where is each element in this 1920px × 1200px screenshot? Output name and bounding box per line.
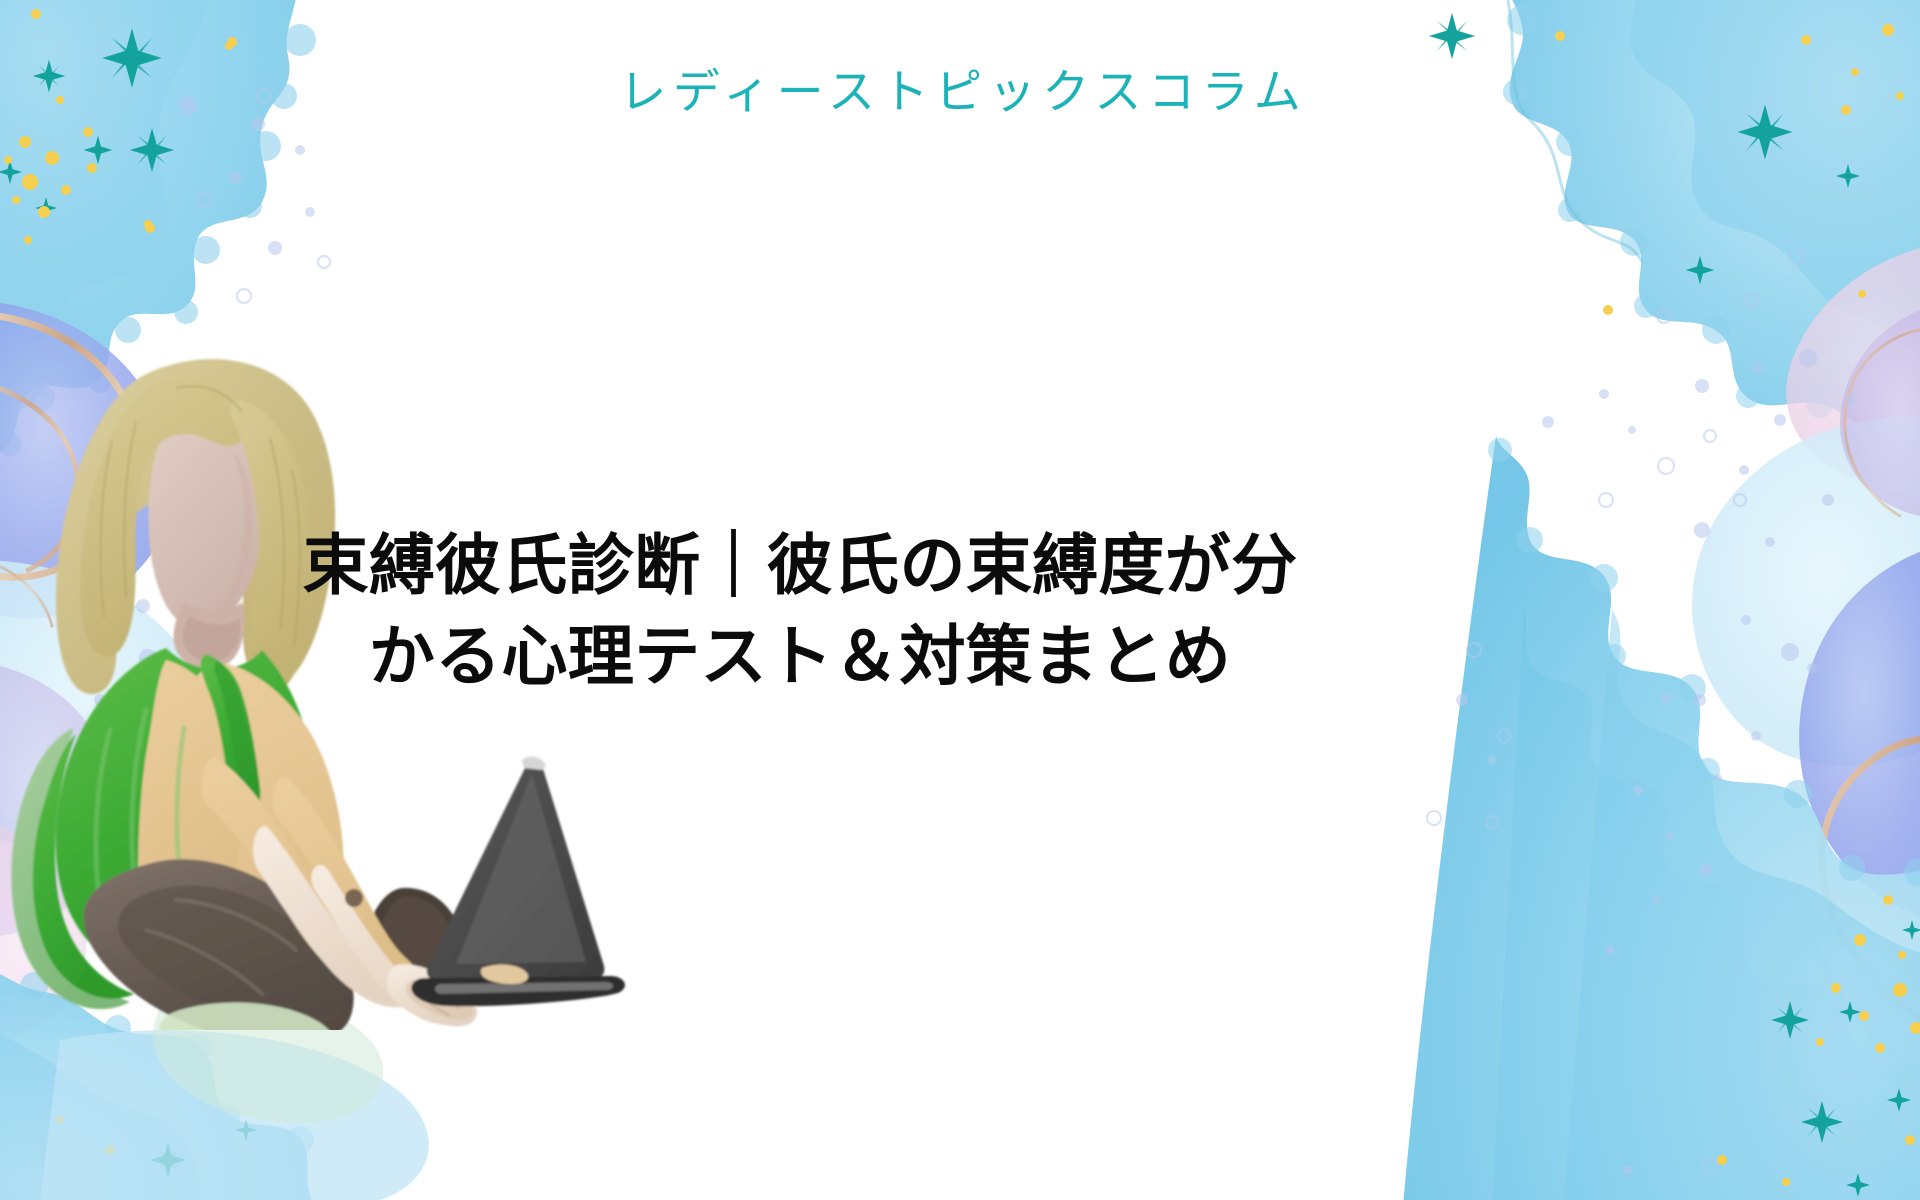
category-eyebrow-text: レディーストピックスコラム: [0, 68, 1920, 115]
thumbnail-canvas: レディーストピックスコラム 束縛彼氏診断｜彼氏の束縛度が分 かる心理テスト＆対策…: [0, 0, 1920, 1200]
page-title: 束縛彼氏診断｜彼氏の束縛度が分 かる心理テスト＆対策まとめ: [300, 522, 1300, 700]
page-title-line-2: かる心理テスト＆対策まとめ: [300, 613, 1300, 700]
watercolor-bottom-right: [1400, 436, 1920, 1200]
page-title-line-1: 束縛彼氏診断｜彼氏の束縛度が分: [300, 522, 1300, 609]
watercolor-right-middle: [1692, 240, 1920, 1096]
